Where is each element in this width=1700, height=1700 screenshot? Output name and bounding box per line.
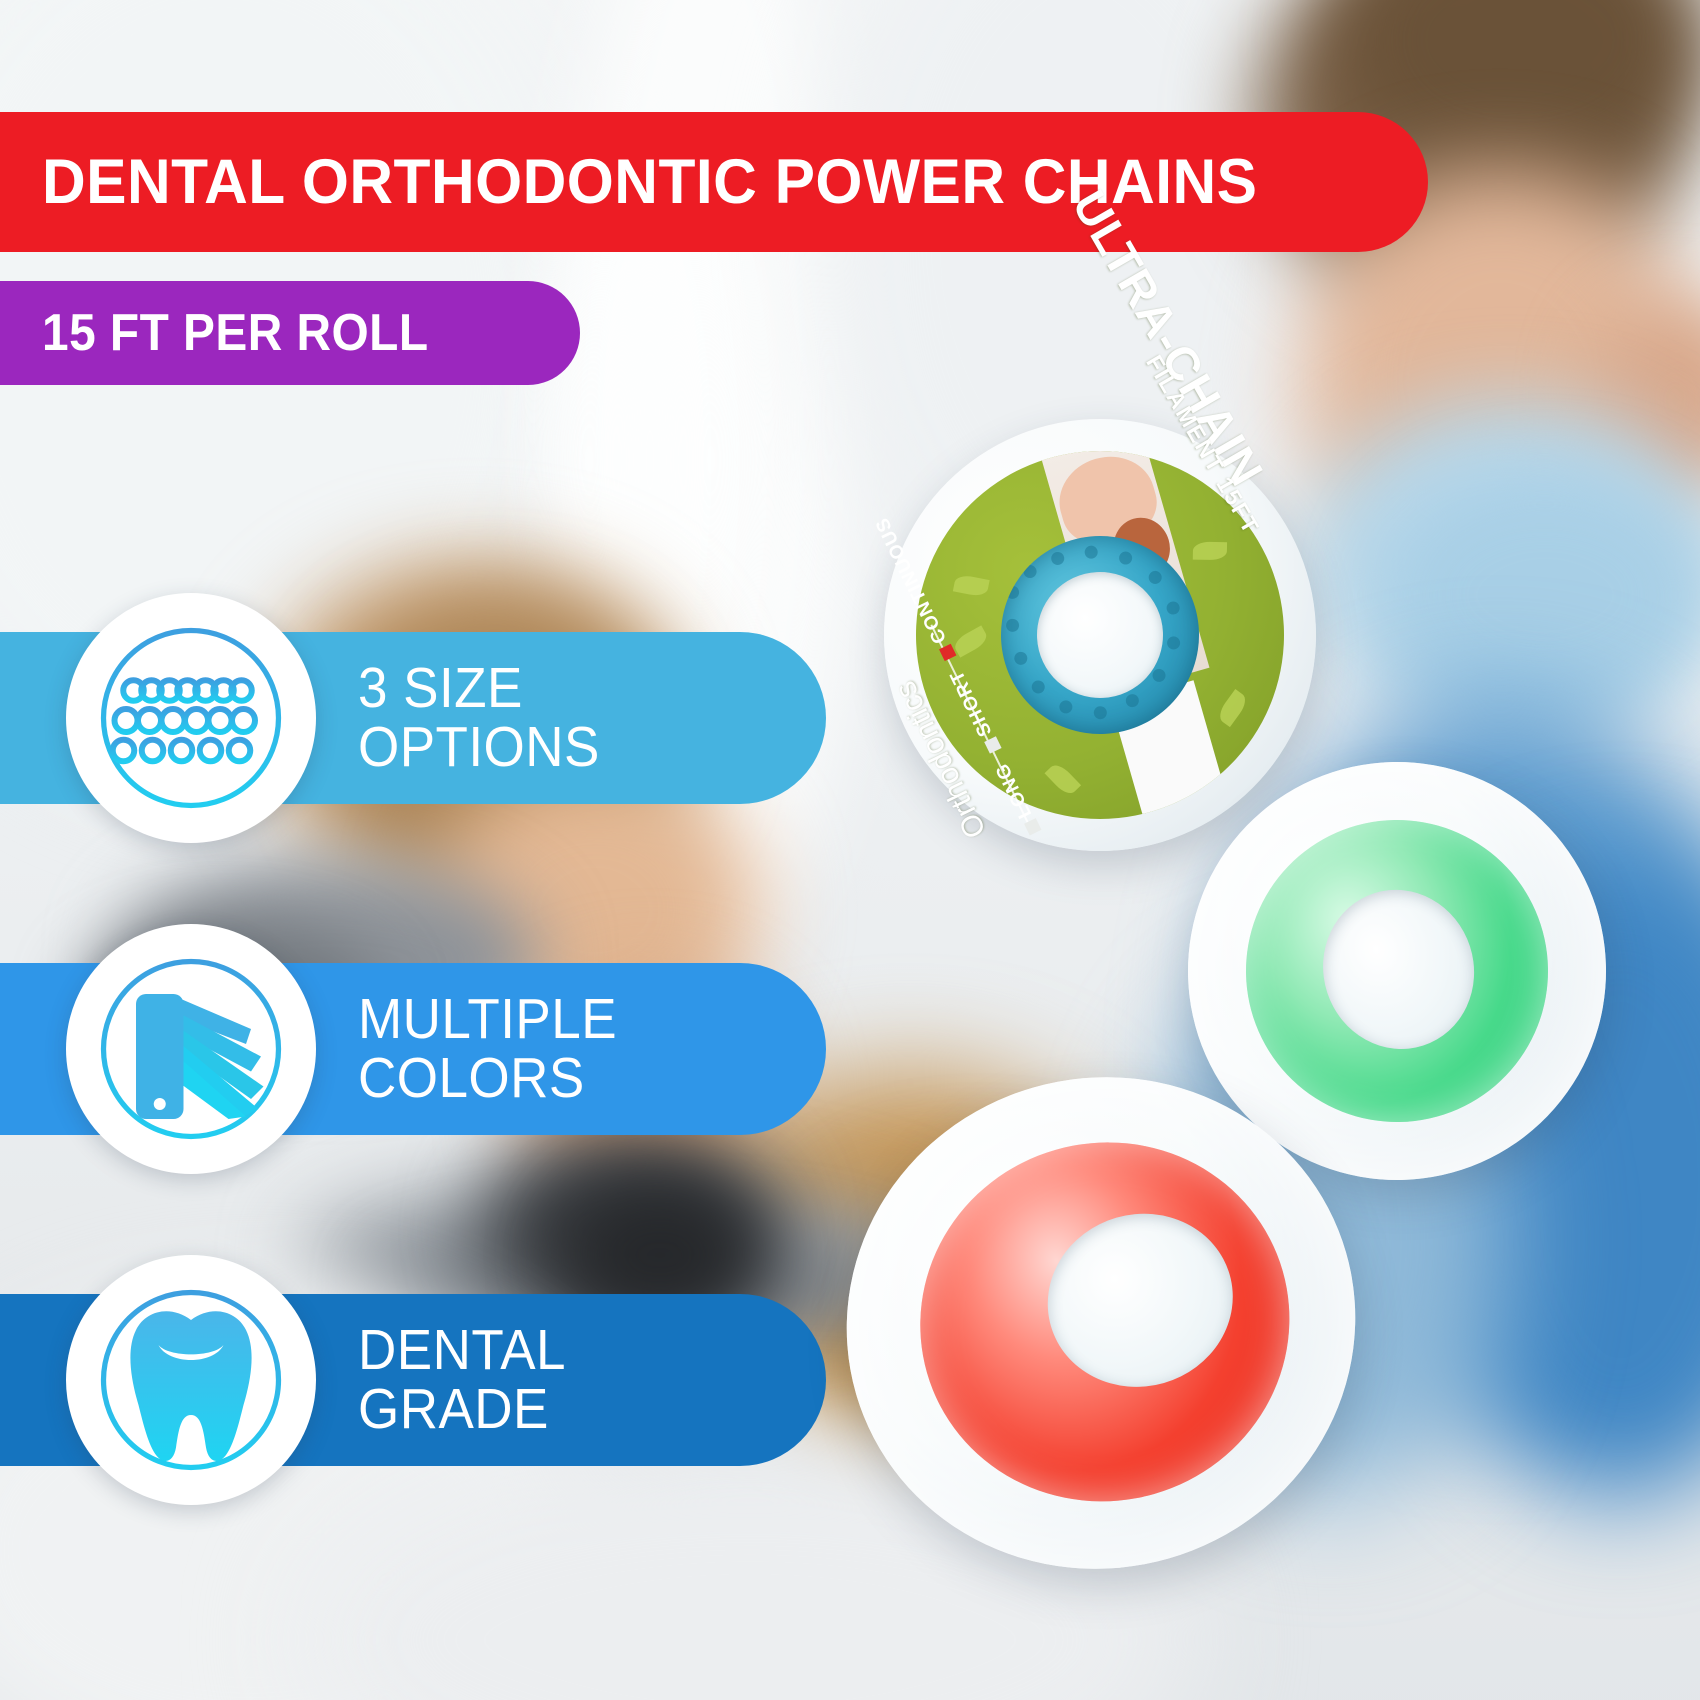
feature-medallion bbox=[66, 1255, 316, 1505]
feature-medallion bbox=[66, 924, 316, 1174]
product-marketing-image: DENTAL ORTHODONTIC POWER CHAINS 15 FT PE… bbox=[0, 0, 1700, 1700]
package-option-label: SHORT bbox=[946, 666, 997, 740]
feature-label: 3 SIZE OPTIONS bbox=[358, 659, 600, 778]
chain-rows-icon bbox=[66, 593, 316, 843]
package-option: SHORT bbox=[946, 666, 1005, 756]
tooth-icon bbox=[66, 1255, 316, 1505]
feature-label: DENTAL GRADE bbox=[358, 1321, 566, 1440]
checkbox-icon bbox=[984, 737, 1001, 754]
checkbox-icon bbox=[1024, 818, 1041, 835]
package-option-label: CONTINUOUS bbox=[872, 513, 952, 646]
color-fan-deck-icon bbox=[66, 924, 316, 1174]
package-option: CONTINUOUS bbox=[872, 513, 960, 663]
subtitle-banner: 15 FT PER ROLL bbox=[0, 281, 580, 385]
feature-label: MULTIPLE COLORS bbox=[358, 990, 617, 1109]
page-subtitle: 15 FT PER ROLL bbox=[42, 307, 429, 359]
package-option-label: LONG bbox=[992, 759, 1038, 822]
package-option: LONG bbox=[992, 759, 1045, 838]
headline-banner: DENTAL ORTHODONTIC POWER CHAINS bbox=[0, 112, 1428, 252]
checkbox-checked-icon bbox=[938, 644, 955, 661]
feature-medallion bbox=[66, 593, 316, 843]
